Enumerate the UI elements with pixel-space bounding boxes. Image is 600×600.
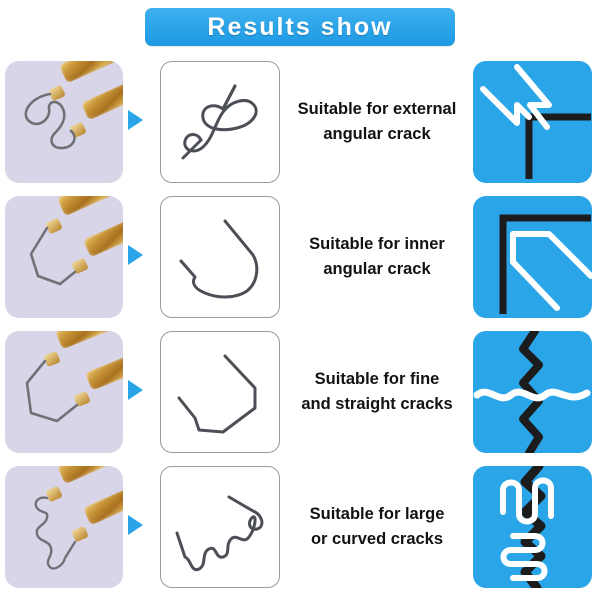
application-panel-large-curved: [473, 466, 592, 588]
arrow-right-icon: [128, 380, 143, 400]
results-show-infographic: Results show: [0, 0, 600, 600]
arrow-right-icon: [128, 110, 143, 130]
label-line-1: Suitable for inner: [309, 232, 445, 257]
label-external-angular: Suitable for external angular crack: [288, 58, 466, 186]
label-line-2: angular crack: [309, 257, 445, 282]
banner-area: Results show: [0, 8, 600, 46]
row-external-angular: Suitable for external angular crack: [0, 58, 600, 193]
title-banner: Results show: [145, 8, 455, 46]
wiggly-staple-photo-icon: [5, 466, 123, 588]
rows-container: Suitable for external angular crack: [0, 58, 600, 598]
label-line-2: or curved cracks: [310, 527, 445, 552]
arrow-right-icon: [128, 245, 143, 265]
arrow-right-icon: [128, 515, 143, 535]
v-staple-icon: [161, 197, 279, 317]
label-large-curved: Suitable for large or curved cracks: [288, 463, 466, 591]
label-line-1: Suitable for fine: [301, 367, 452, 392]
flat-staple-photo-icon: [5, 331, 123, 453]
label-fine-straight: Suitable for fine and straight cracks: [288, 328, 466, 456]
flat-staple-icon: [161, 332, 279, 452]
photo-cell-inner-angular: [5, 196, 123, 318]
external-corner-crack-icon: [473, 61, 592, 183]
page-title: Results show: [207, 13, 392, 42]
row-fine-straight: Suitable for fine and straight cracks: [0, 328, 600, 463]
photo-cell-external-angular: [5, 61, 123, 183]
staple-diagram-wiggly: [160, 466, 280, 588]
staple-diagram-wave: [160, 61, 280, 183]
staple-diagram-v: [160, 196, 280, 318]
label-line-1: Suitable for external: [298, 97, 457, 122]
row-inner-angular: Suitable for inner angular crack: [0, 193, 600, 328]
inner-corner-crack-icon: [473, 196, 592, 318]
row-large-curved: Suitable for large or curved cracks: [0, 463, 600, 598]
label-line-2: and straight cracks: [301, 392, 452, 417]
photo-cell-fine-straight: [5, 331, 123, 453]
label-line-1: Suitable for large: [310, 502, 445, 527]
v-staple-photo-icon: [5, 196, 123, 318]
application-panel-fine-straight: [473, 331, 592, 453]
label-line-2: angular crack: [298, 122, 457, 147]
wave-staple-photo-icon: [5, 61, 123, 183]
wave-staple-icon: [161, 62, 279, 182]
photo-cell-large-curved: [5, 466, 123, 588]
application-panel-inner-angular: [473, 196, 592, 318]
wiggly-staple-icon: [161, 467, 279, 587]
application-panel-external-angular: [473, 61, 592, 183]
label-inner-angular: Suitable for inner angular crack: [288, 193, 466, 321]
curved-crack-stitched-icon: [473, 466, 592, 588]
staple-diagram-flat: [160, 331, 280, 453]
straight-crack-icon: [473, 331, 592, 453]
